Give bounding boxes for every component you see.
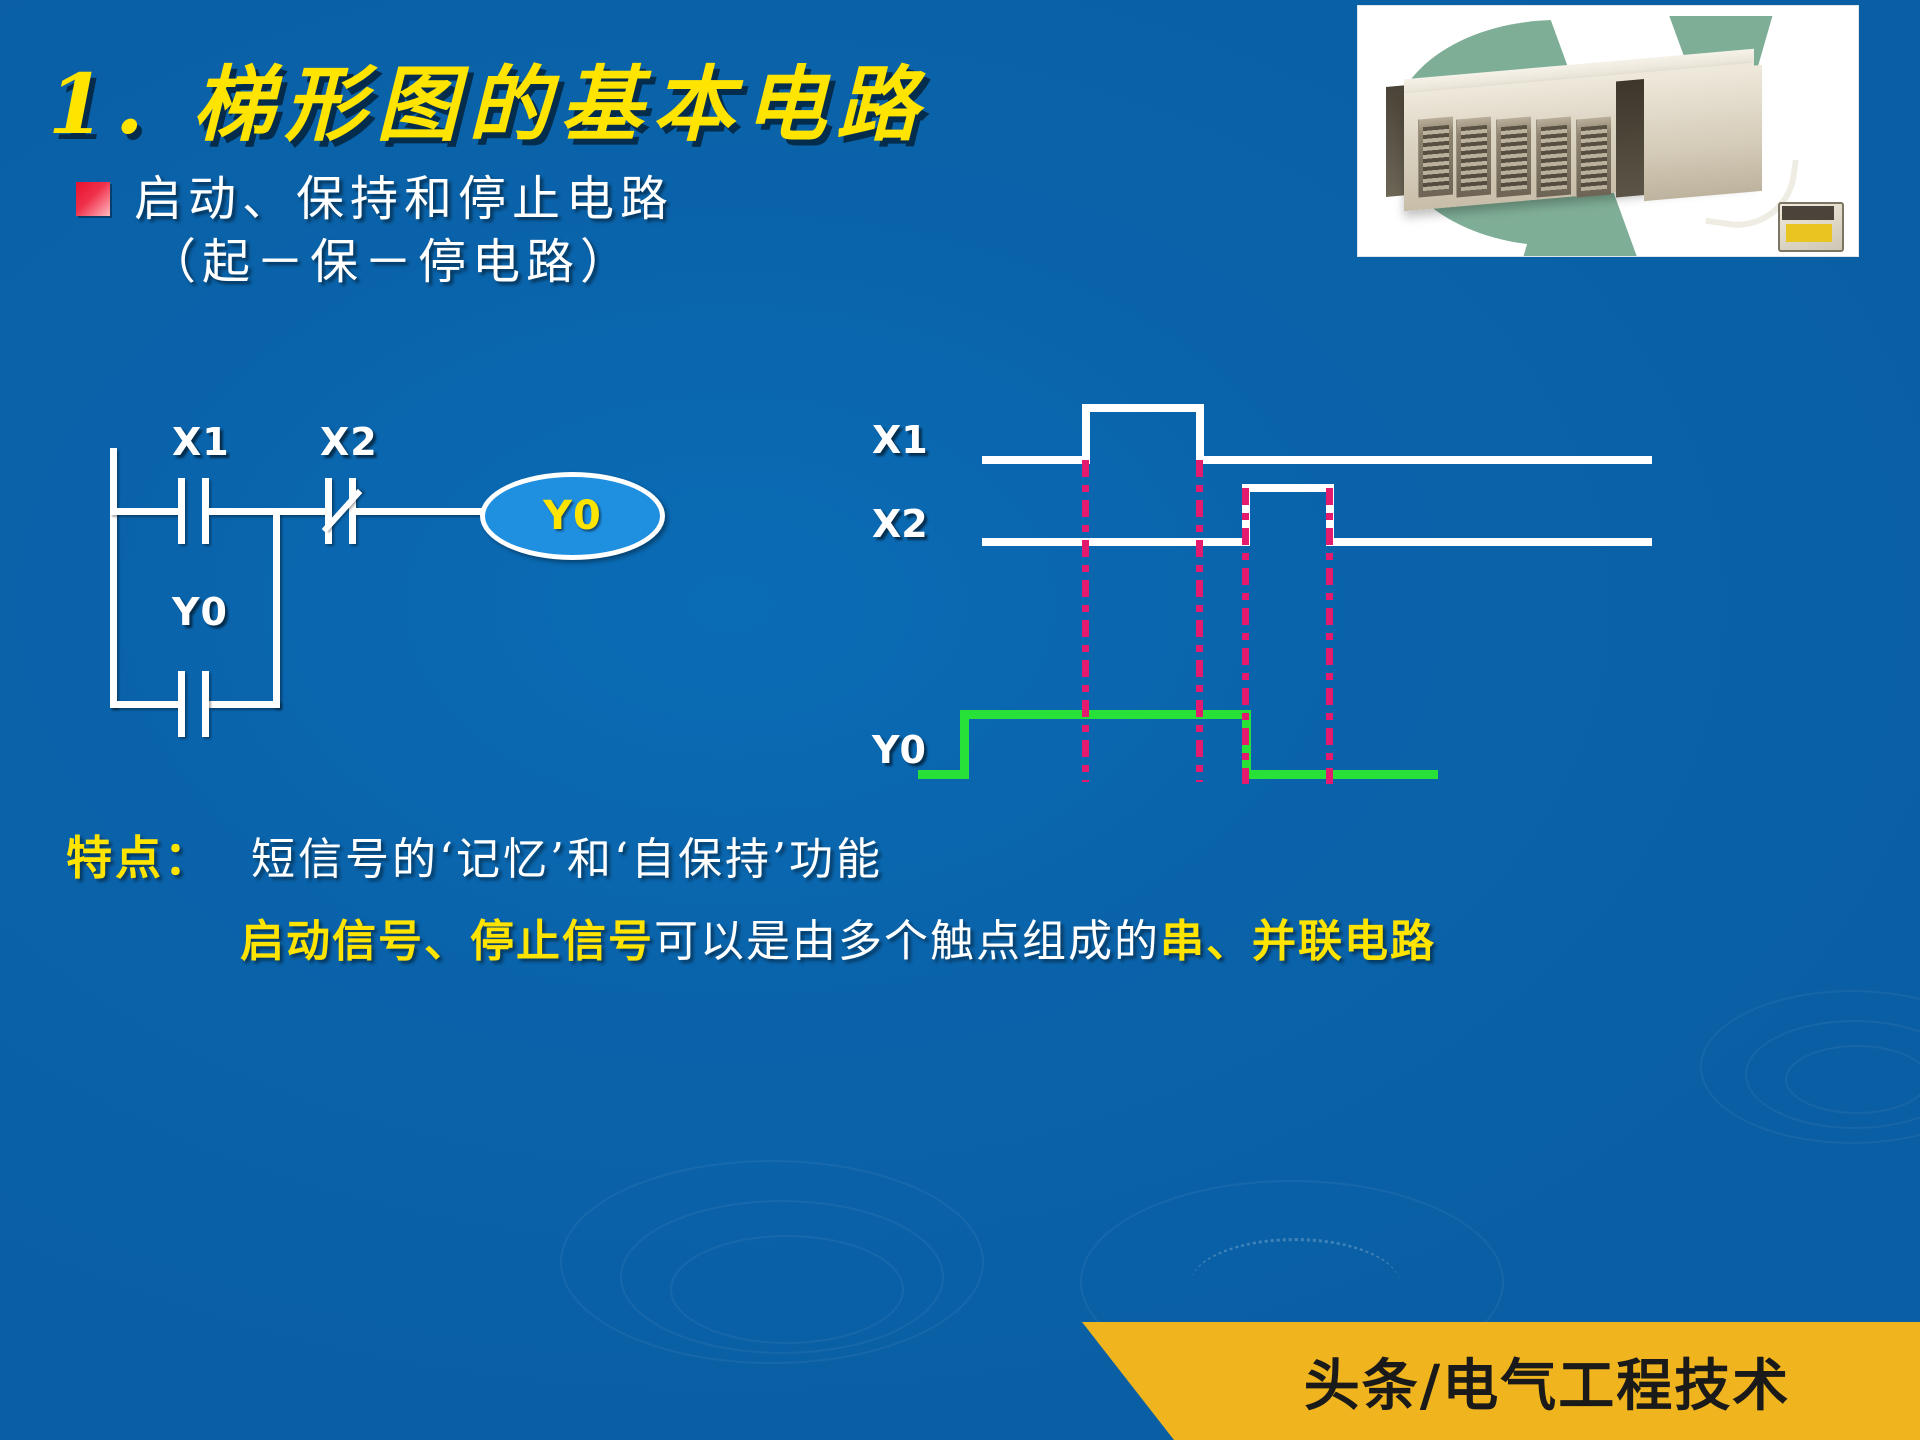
handheld-top-bar bbox=[1782, 206, 1834, 220]
watermark-arc-decoration bbox=[1190, 1238, 1400, 1331]
y0-low-right bbox=[1242, 770, 1438, 779]
waveform-label-y0: Y0 bbox=[872, 728, 926, 772]
feature-note-line2: 启动信号、停止信号可以是由多个触点组成的串、并联电路 bbox=[240, 905, 1436, 969]
y0-rising-edge bbox=[960, 710, 969, 779]
y0-low-left bbox=[918, 770, 966, 779]
y0-high-level bbox=[960, 710, 1250, 719]
timing-diagram: X1 X2 Y0 bbox=[860, 380, 1870, 800]
plc-io-module bbox=[1496, 116, 1531, 197]
ripple-decoration bbox=[1785, 1045, 1920, 1114]
bullet-line-1: 启动、保持和停止电路 bbox=[134, 168, 674, 231]
bullet-line-2: （起－保－停电路） bbox=[134, 231, 674, 294]
ripple-decoration bbox=[620, 1200, 944, 1354]
ripple-decoration bbox=[1745, 1020, 1920, 1129]
marker-line-t2 bbox=[1196, 460, 1203, 782]
ripple-decoration bbox=[560, 1160, 984, 1364]
contact-y0-bar-right bbox=[202, 671, 209, 737]
note-segment-middle: 可以是由多个触点组成的 bbox=[654, 916, 1160, 967]
plc-io-module bbox=[1576, 116, 1611, 197]
rung1-wire-to-coil bbox=[356, 508, 484, 515]
ladder-left-rail bbox=[110, 448, 117, 708]
ripple-decoration bbox=[1700, 990, 1920, 1144]
note-segment-circuit: 串、并联电路 bbox=[1160, 916, 1436, 967]
x1-falling-edge bbox=[1196, 404, 1204, 464]
contact-y0-bar-left bbox=[178, 671, 185, 737]
contact-x2-label: X2 bbox=[320, 420, 378, 464]
rung2-wire-right bbox=[209, 701, 280, 708]
contact-y0-label: Y0 bbox=[172, 590, 228, 634]
feature-note-key: 特点： bbox=[66, 822, 213, 888]
plc-io-module bbox=[1418, 116, 1453, 197]
x1-rising-edge bbox=[1082, 404, 1090, 464]
waveform-label-x1: X1 bbox=[872, 418, 928, 462]
rung1-wire-left bbox=[110, 508, 178, 515]
contact-x1-bar-left bbox=[178, 478, 185, 544]
rung2-wire-left bbox=[110, 701, 178, 708]
feature-note-row: 特点： 短信号的‘记忆’和‘自保持’功能 bbox=[66, 822, 883, 888]
bullet-block: 启动、保持和停止电路 （起－保－停电路） bbox=[76, 168, 674, 295]
rung1-wire-mid bbox=[209, 508, 280, 515]
plc-handheld-programmer bbox=[1778, 202, 1844, 252]
bullet-square-icon bbox=[76, 182, 110, 216]
waveform-label-x2: X2 bbox=[872, 502, 928, 546]
ladder-diagram: X1 Y0 X2 Y0 bbox=[110, 430, 710, 730]
contact-x2-bar-right bbox=[349, 478, 356, 544]
marker-line-t4 bbox=[1326, 488, 1333, 784]
x1-low-left bbox=[982, 456, 1086, 464]
output-coil-y0: Y0 bbox=[480, 472, 665, 560]
plc-io-module bbox=[1456, 116, 1491, 197]
note-segment-signals: 启动信号、停止信号 bbox=[240, 916, 654, 967]
rung1-wire-to-x2 bbox=[280, 508, 325, 515]
handheld-screen bbox=[1786, 224, 1832, 242]
x2-low-right bbox=[1326, 538, 1652, 546]
ripple-decoration bbox=[670, 1235, 904, 1344]
x2-low-left bbox=[982, 538, 1248, 546]
page-title: 1. 梯形图的基本电路 bbox=[48, 38, 928, 157]
contact-x1-label: X1 bbox=[172, 420, 230, 464]
contact-x2-bar-left bbox=[325, 478, 332, 544]
watermark-text: 头条/电气工程技术 bbox=[1304, 1341, 1790, 1422]
plc-rack-photo bbox=[1357, 5, 1859, 257]
slide-canvas: 1. 梯形图的基本电路 启动、保持和停止电路 （起－保－停电路） bbox=[0, 0, 1920, 1440]
plc-io-module bbox=[1536, 116, 1571, 197]
x2-high-level bbox=[1242, 484, 1334, 492]
marker-line-t3 bbox=[1242, 488, 1249, 784]
branch-vertical-wire bbox=[273, 508, 280, 708]
contact-x1-bar-right bbox=[202, 478, 209, 544]
x1-high-level bbox=[1082, 404, 1204, 412]
feature-note-text: 短信号的‘记忆’和‘自保持’功能 bbox=[251, 823, 883, 887]
watermark-banner: 头条/电气工程技术 bbox=[1174, 1322, 1920, 1440]
x1-low-right bbox=[1196, 456, 1652, 464]
marker-line-t1 bbox=[1082, 460, 1089, 782]
output-coil-label: Y0 bbox=[543, 493, 602, 539]
